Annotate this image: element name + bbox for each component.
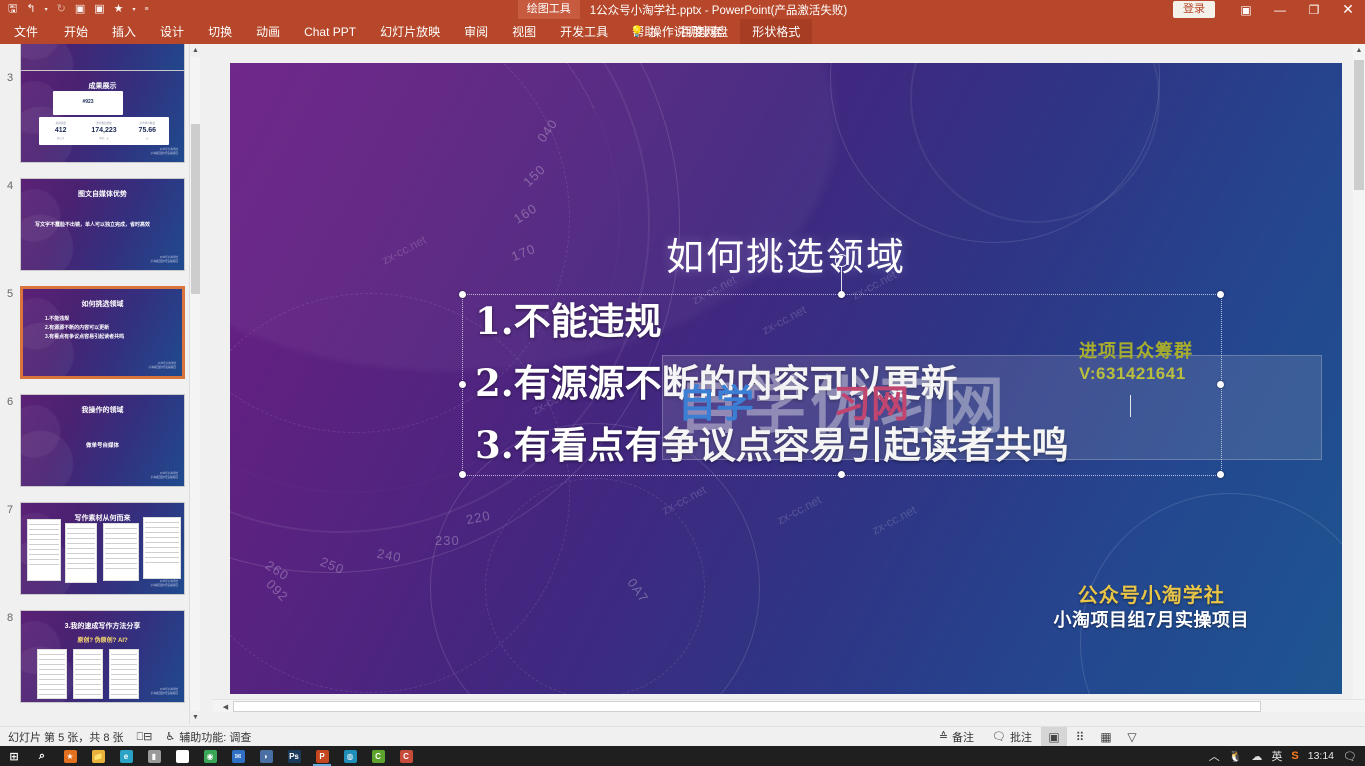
thumbnail-scrollbar[interactable]: ▲ ▼: [189, 44, 200, 724]
photoshop-icon[interactable]: Ps: [280, 746, 308, 766]
present-icon[interactable]: ▣: [94, 4, 104, 15]
horizontal-scrollbar[interactable]: ◀: [213, 699, 1365, 712]
thumbnail-screenshot-line: [105, 543, 137, 544]
thumbnail-stat-top-value: #923: [53, 91, 123, 105]
thumbnail-stat-cell-1: 总阅读量412较上月: [39, 117, 82, 145]
thumbnail-footer-line: 小淘项目组7月实操项目: [151, 584, 178, 588]
thumbnail-screenshot-line: [105, 538, 137, 539]
thumbnail-title: 3.我的速成写作方法分享: [21, 621, 184, 631]
status-right-group: ≙ 备注 🗨 批注 ▣ ⠿ ▦ ▽: [930, 727, 1145, 747]
mail-icon[interactable]: ✉: [224, 746, 252, 766]
thumbnail-screenshot-line: [39, 654, 65, 655]
resize-handle-tl[interactable]: [459, 291, 466, 298]
show-hidden-icons-icon[interactable]: ︿: [1209, 748, 1220, 764]
search-icon-glyph: ⌕: [36, 750, 49, 763]
slide-title[interactable]: 如何挑选领域: [230, 226, 1342, 281]
slide-canvas-area: 0401501601702202302402502600920A7 如何挑选领域…: [213, 44, 1365, 724]
file-explorer-icon-glyph: 📁: [92, 750, 105, 763]
accessibility-label: 辅助功能: 调查: [179, 729, 251, 745]
thumbnail-footer: 公众号小淘学社小淘项目组7月实操项目: [149, 362, 176, 370]
watermark-pink-text: 习网: [833, 373, 909, 428]
thumbnail-screenshot-line: [67, 538, 95, 539]
thumbnail-stat-value: 75.66: [126, 125, 169, 134]
resize-handle-bc[interactable]: [838, 471, 845, 478]
contextual-tab-label: 绘图工具: [518, 0, 580, 19]
edge-browser-icon-glyph: e: [120, 750, 133, 763]
thumbnail-screenshot-line: [67, 528, 95, 529]
thumbnail-screenshot-line: [111, 689, 137, 690]
canvas-scroll-up-icon[interactable]: ▲: [1353, 44, 1365, 57]
thumbnail-body-line: 1.不能违规: [45, 315, 69, 322]
thumbnail-footer-line: 小淘项目组7月实操项目: [151, 152, 178, 156]
wechat-icon[interactable]: C: [364, 746, 392, 766]
slide-thumbnail-pane[interactable]: 3成果展示#923总阅读量412较上月累计收益金额174,223单位：元平均单价…: [0, 44, 200, 724]
accessibility-icon: ♿: [165, 730, 175, 743]
login-button[interactable]: 登录: [1173, 1, 1215, 18]
thumbnail-screenshot-line: [111, 674, 137, 675]
watermark-group-line1: 进项目众筹群: [1079, 340, 1193, 363]
ribbon-tab-7[interactable]: Chat PPT: [292, 19, 368, 44]
thumbnail-screenshot-line: [111, 669, 137, 670]
thumbnail-stat-sub: 较上月: [39, 134, 82, 140]
thumbnail-screenshot-line: [105, 528, 137, 529]
start-from-beginning-icon[interactable]: ▣: [75, 4, 85, 15]
thumbnail-screenshot-line: [145, 552, 179, 553]
comments-button[interactable]: 🗨 批注: [983, 727, 1041, 747]
resize-handle-bl[interactable]: [459, 471, 466, 478]
thumbnail-screenshot-line: [145, 562, 179, 563]
thumbnail-screenshot-line: [29, 564, 59, 565]
resize-handle-tr[interactable]: [1217, 291, 1224, 298]
thumbnail-screenshot-line: [29, 539, 59, 540]
ribbon-display-options-icon[interactable]: ▣: [1229, 0, 1263, 19]
ribbon-tab-8[interactable]: 幻灯片放映: [368, 19, 452, 44]
app-star-icon-glyph: ★: [64, 750, 77, 763]
thumbnail-footer: 公众号小淘学社小淘项目组7月实操项目: [151, 580, 178, 588]
glasses-app-icon-glyph: ◎: [176, 750, 189, 763]
thumbnail-number: 4: [0, 178, 20, 271]
paint-icon[interactable]: ◗: [252, 746, 280, 766]
language-icon[interactable]: ⎕⊟: [137, 730, 153, 744]
thumbnail-screenshot-1: [27, 519, 61, 581]
reading-view-button[interactable]: ▦: [1093, 727, 1119, 747]
thumbnail-item-5[interactable]: 5如何挑选领域1.不能违规2.有源源不断的内容可以更新3.有看点有争议点容易引起…: [0, 286, 200, 379]
thumbnail-slide-3[interactable]: 成果展示#923总阅读量412较上月累计收益金额174,223单位：元平均单价收…: [20, 70, 185, 163]
document-title: 1公众号小淘学社.pptx - PowerPoint(产品激活失败): [590, 2, 848, 18]
thumbnail-screenshot-line: [67, 553, 95, 554]
powerpoint-icon[interactable]: P: [308, 746, 336, 766]
thumbnail-footer: 公众号小淘学社小淘项目组7月实操项目: [151, 148, 178, 156]
thumbnail-screenshot-line: [29, 544, 59, 545]
thumbnail-screenshot-line: [39, 669, 65, 670]
thumbnail-screenshot-line: [145, 537, 179, 538]
thumbnail-footer: 公众号小淘学社小淘项目组7月实操项目: [151, 688, 178, 696]
capture-icon-glyph: C: [400, 750, 413, 763]
watermark-blue-text: 自学: [678, 373, 754, 428]
thumbnail-screenshot-line: [39, 694, 65, 695]
thumbnail-screenshot-line: [75, 664, 101, 665]
thumbnail-screenshot-line: [75, 689, 101, 690]
thumbnail-screenshot-line: [39, 664, 65, 665]
accessibility-status[interactable]: ♿ 辅助功能: 调查: [165, 729, 251, 745]
thumbnail-screenshot-line: [75, 659, 101, 660]
thumbnail-screenshot-line: [39, 659, 65, 660]
thumbnail-number: 7: [0, 502, 20, 595]
thumbnail-title: 如何挑选领域: [23, 299, 182, 309]
thumbnail-slide-7[interactable]: 写作素材从何而来公众号小淘学社小淘项目组7月实操项目: [20, 502, 185, 595]
thumbnail-screenshot-line: [67, 563, 95, 564]
thumbnail-screenshot-2: [65, 523, 97, 583]
thumbnail-screenshot-line: [67, 533, 95, 534]
body-text-placeholder[interactable]: 1.不能违规 2.有源源不断的内容可以更新 3.有看点有争议点容易引起读者共鸣 …: [463, 295, 1221, 475]
normal-view-button[interactable]: ▣: [1041, 727, 1067, 747]
text-cursor-icon: [1130, 395, 1131, 417]
thumbnail-screenshot-line: [105, 563, 137, 564]
resize-handle-br[interactable]: [1217, 471, 1224, 478]
tell-me-search[interactable]: 💡 操作说明搜索: [620, 19, 732, 44]
thumbnail-footer-line: 小淘项目组7月实操项目: [151, 260, 178, 264]
thumbnail-stat-cell-2: 累计收益金额174,223单位：元: [82, 117, 125, 145]
body-line-1: 1.不能违规: [475, 291, 662, 345]
start-button-glyph: ⊞: [8, 750, 21, 763]
window-controls: 登录 ▣ — ❐ ✕: [1173, 0, 1365, 19]
thumbnail-screenshot-line: [145, 522, 179, 523]
chrome-browser-icon[interactable]: ◉: [196, 746, 224, 766]
thumbnail-screenshot-line: [145, 547, 179, 548]
thumbnail-title: 成果展示: [21, 81, 184, 91]
scrollbar-thumb[interactable]: [191, 124, 200, 294]
slide-sorter-view-button[interactable]: ⠿: [1067, 727, 1093, 747]
edge-browser-icon[interactable]: e: [112, 746, 140, 766]
search-icon[interactable]: ⌕: [28, 746, 56, 766]
star-icon[interactable]: ★: [114, 4, 124, 15]
thumbnail-item-7[interactable]: 7写作素材从何而来公众号小淘学社小淘项目组7月实操项目: [0, 502, 200, 595]
thumbnail-screenshot-line: [111, 684, 137, 685]
capture-icon[interactable]: C: [392, 746, 420, 766]
close-button[interactable]: ✕: [1331, 0, 1365, 19]
thumbnail-slide-6[interactable]: 我操作的领域做单号自媒体公众号小淘学社小淘项目组7月实操项目: [20, 394, 185, 487]
thumbnail-item-6[interactable]: 6我操作的领域做单号自媒体公众号小淘学社小淘项目组7月实操项目: [0, 394, 200, 487]
ribbon-tab-9[interactable]: 审阅: [452, 19, 500, 44]
taskbar-clock[interactable]: 13:14: [1308, 750, 1334, 762]
undo-icon[interactable]: ↰: [26, 4, 35, 15]
ribbon-tab-4[interactable]: 设计: [148, 19, 196, 44]
notification-center-icon[interactable]: 🗨: [1343, 750, 1357, 763]
notes-label: 备注: [952, 729, 974, 745]
thumbnail-screenshot-line: [75, 654, 101, 655]
slide-count-label[interactable]: 幻灯片 第 5 张，共 8 张: [8, 729, 124, 745]
thumbnail-body-line: 原创? 伪原创? AI?: [21, 635, 184, 644]
thumbnail-stat-cell-3: 平均单价收益75.66元: [126, 117, 169, 145]
thumbnail-screenshot-line: [105, 568, 137, 569]
thumbnail-screenshot-line: [145, 557, 179, 558]
tell-me-label: 操作说明搜索: [650, 23, 722, 40]
resize-handle-mr[interactable]: [1217, 381, 1224, 388]
current-slide[interactable]: 0401501601702202302402502600920A7 如何挑选领域…: [230, 63, 1342, 694]
thumbnail-screenshot-line: [67, 558, 95, 559]
mail-icon-glyph: ✉: [232, 750, 245, 763]
thumbnail-screenshot-line: [39, 679, 65, 680]
thumbnail-slide-8[interactable]: 3.我的速成写作方法分享原创? 伪原创? AI?公众号小淘学社小淘项目组7月实操…: [20, 610, 185, 703]
thumbnail-body-line: 2.有源源不断的内容可以更新: [45, 324, 109, 331]
thumbnail-footer-line: 小淘项目组7月实操项目: [149, 366, 176, 370]
windows-taskbar: ⊞⌕★📁e▮◎◉✉◗PsP◍CC ︿ 🐧 ☁ 英 S 13:14 🗨: [0, 746, 1365, 766]
sogou-ime-icon[interactable]: S: [1291, 750, 1298, 762]
star-dropdown-icon[interactable]: ▾: [133, 7, 136, 13]
thumbnail-screenshot-line: [29, 529, 59, 530]
thumbnail-stat-value: 412: [39, 125, 82, 134]
title-center-group: 绘图工具 1公众号小淘学社.pptx - PowerPoint(产品激活失败): [0, 0, 1365, 19]
photoshop-icon-glyph: Ps: [288, 750, 301, 763]
thumbnail-slide-4[interactable]: 图文自媒体优势写文字不露脸不出镜，单人可以独立完成，省时高效公众号小淘学社小淘项…: [20, 178, 185, 271]
resize-handle-ml[interactable]: [459, 381, 466, 388]
thumbnail-screenshot-line: [29, 534, 59, 535]
ribbon-tab-2[interactable]: 开始: [52, 19, 100, 44]
quick-access-toolbar: 🖫 ↰ ▾ ↻ ▣ ▣ ★ ▾ ≡: [8, 0, 149, 19]
file-explorer-icon[interactable]: 📁: [84, 746, 112, 766]
slideshow-view-button[interactable]: ▽: [1119, 727, 1145, 747]
thumbnail-screenshot-line: [67, 548, 95, 549]
thumbnail-number: 5: [0, 286, 20, 379]
comments-label: 批注: [1010, 729, 1032, 745]
thumbnail-screenshot-2: [73, 649, 103, 699]
paint-icon-glyph: ◗: [260, 750, 273, 763]
thumbnail-screenshot-line: [75, 669, 101, 670]
thumbnail-screenshot-line: [111, 679, 137, 680]
thumbnail-screenshot-line: [105, 553, 137, 554]
thumbnail-body-line: 写文字不露脸不出镜，单人可以独立完成，省时高效: [35, 221, 150, 228]
thumbnail-screenshot-line: [75, 684, 101, 685]
thumbnail-footer: 公众号小淘学社小淘项目组7月实操项目: [151, 472, 178, 480]
rotation-stem: [841, 267, 842, 293]
notes-icon: ≙: [939, 730, 948, 743]
thumbnail-item-4[interactable]: 4图文自媒体优势写文字不露脸不出镜，单人可以独立完成，省时高效公众号小淘学社小淘…: [0, 178, 200, 271]
thumbnail-screenshot-line: [111, 654, 137, 655]
thumbnail-screenshot-line: [75, 679, 101, 680]
watermark-group-line2: V:631421641: [1079, 363, 1193, 384]
thumbnail-screenshot-line: [39, 689, 65, 690]
thumbnail-screenshot-line: [145, 542, 179, 543]
powerpoint-window: 🖫 ↰ ▾ ↻ ▣ ▣ ★ ▾ ≡ 绘图工具 1公众号小淘学社.pptx - P…: [0, 0, 1365, 766]
app-star-icon[interactable]: ★: [56, 746, 84, 766]
undo-dropdown-icon[interactable]: ▾: [45, 7, 48, 13]
slide-signature: 公众号小淘学社 小淘项目组7月实操项目: [1053, 583, 1249, 633]
notes-button[interactable]: ≙ 备注: [930, 727, 983, 747]
thumbnail-footer-line: 小淘项目组7月实操项目: [151, 476, 178, 480]
thumbnail-screenshot-3: [109, 649, 139, 699]
scroll-down-icon[interactable]: ▼: [190, 711, 200, 724]
thumbnail-body-line: 做单号自媒体: [21, 441, 184, 449]
thumbnail-number: 8: [0, 610, 20, 703]
thumbnail-screenshot-line: [105, 548, 137, 549]
thumbnail-screenshot-line: [145, 532, 179, 533]
thumbnail-stat-sub: 元: [126, 134, 169, 140]
thumbnail-body-line: 3.有看点有争议点容易引起读者共鸣: [45, 333, 124, 340]
start-button[interactable]: ⊞: [0, 746, 28, 766]
ribbon-tab-14[interactable]: 形状格式: [740, 19, 812, 44]
thumbnail-screenshot-line: [29, 554, 59, 555]
usb-device-icon[interactable]: ▮: [140, 746, 168, 766]
thumbnail-screenshot-4: [143, 517, 181, 579]
restore-button[interactable]: ❐: [1297, 0, 1331, 19]
scroll-up-icon[interactable]: ▲: [190, 44, 200, 57]
taskbar-icons: ⊞⌕★📁e▮◎◉✉◗PsP◍CC: [0, 746, 420, 766]
system-tray: ︿ 🐧 ☁ 英 S 13:14 🗨: [1209, 748, 1361, 764]
customize-qat-icon[interactable]: ≡: [145, 6, 149, 13]
signature-account-name: 公众号小淘学社: [1053, 583, 1249, 609]
thumbnail-slide-5[interactable]: 如何挑选领域1.不能违规2.有源源不断的内容可以更新3.有看点有争议点容易引起读…: [20, 286, 185, 379]
thumbnail-screenshot-line: [67, 543, 95, 544]
ribbon-tab-11[interactable]: 开发工具: [548, 19, 620, 44]
ribbon-tab-10[interactable]: 视图: [500, 19, 548, 44]
powerpoint-icon-glyph: P: [316, 750, 329, 763]
horizontal-scrollbar-thumb[interactable]: [233, 701, 1261, 712]
thumbnail-screenshot-line: [75, 694, 101, 695]
gauge-number-6: 230: [435, 533, 460, 548]
thumbnail-screenshot-1: [37, 649, 67, 699]
rotate-handle-icon[interactable]: [835, 254, 848, 267]
browser-icon-glyph: ◍: [344, 750, 357, 763]
thumbnail-footer: 公众号小淘学社小淘项目组7月实操项目: [151, 256, 178, 264]
title-bar: 🖫 ↰ ▾ ↻ ▣ ▣ ★ ▾ ≡ 绘图工具 1公众号小淘学社.pptx - P…: [0, 0, 1365, 19]
ribbon-tab-3[interactable]: 插入: [100, 19, 148, 44]
thumbnail-screenshot-line: [29, 559, 59, 560]
thumbnail-stat-sub: 单位：元: [82, 134, 125, 140]
thumbnail-footer-line: 小淘项目组7月实操项目: [151, 692, 178, 696]
canvas-scrollbar-thumb[interactable]: [1354, 60, 1364, 190]
work-area: 3成果展示#923总阅读量412较上月累计收益金额174,223单位：元平均单价…: [0, 44, 1365, 724]
thumbnail-title: 图文自媒体优势: [21, 189, 184, 199]
ribbon-tab-5[interactable]: 切换: [196, 19, 244, 44]
usb-device-icon-glyph: ▮: [148, 750, 161, 763]
signature-project-name: 小淘项目组7月实操项目: [1053, 609, 1249, 633]
comment-icon: 🗨: [992, 730, 1006, 743]
qq-icon[interactable]: 🐧: [1229, 750, 1243, 763]
thumbnail-screenshot-line: [29, 549, 59, 550]
thumbnail-screenshot-line: [105, 558, 137, 559]
thumbnail-screenshot-line: [145, 527, 179, 528]
browser-icon[interactable]: ◍: [336, 746, 364, 766]
canvas-vertical-scrollbar[interactable]: ▲ ▼: [1353, 44, 1365, 712]
thumbnail-item-3[interactable]: 3成果展示#923总阅读量412较上月累计收益金额174,223单位：元平均单价…: [0, 70, 200, 163]
thumbnail-screenshot-line: [111, 659, 137, 660]
thumbnail-stat-card-row: 总阅读量412较上月累计收益金额174,223单位：元平均单价收益75.66元: [39, 117, 169, 145]
thumbnail-screenshot-line: [39, 674, 65, 675]
thumbnail-screenshot-line: [111, 694, 137, 695]
thumbnail-screenshot-line: [75, 674, 101, 675]
thumbnail-screenshot-line: [39, 684, 65, 685]
redo-icon[interactable]: ↻: [57, 4, 66, 15]
thumbnail-number: 3: [0, 70, 20, 163]
thumbnail-screenshot-line: [111, 664, 137, 665]
ime-chinese-icon[interactable]: 英: [1271, 748, 1282, 764]
thumbnail-screenshot-line: [105, 533, 137, 534]
scroll-left-icon[interactable]: ◀: [219, 700, 232, 713]
wechat-icon-glyph: C: [372, 750, 385, 763]
thumbnail-title: 我操作的领域: [21, 405, 184, 415]
ribbon-tab-1[interactable]: 文件: [0, 19, 52, 44]
watermark-group-info: 进项目众筹群 V:631421641: [1079, 340, 1193, 384]
status-bar: 幻灯片 第 5 张，共 8 张 ⎕⊟ ♿ 辅助功能: 调查 ≙ 备注 🗨 批注 …: [0, 726, 1365, 746]
thumbnail-screenshot-3: [103, 523, 139, 581]
minimize-button[interactable]: —: [1263, 0, 1297, 19]
lightbulb-icon: 💡: [630, 25, 644, 38]
thumbnail-screenshot-line: [67, 568, 95, 569]
thumbnail-screenshot-line: [29, 524, 59, 525]
ribbon-tab-6[interactable]: 动画: [244, 19, 292, 44]
sogou-cloud-icon[interactable]: ☁: [1251, 750, 1262, 763]
thumbnail-number: 6: [0, 394, 20, 487]
thumbnail-stat-card-top: #923: [53, 91, 123, 115]
ribbon-tab-bar: 文件开始插入设计切换动画Chat PPT幻灯片放映审阅视图开发工具帮助百度网盘形…: [0, 19, 1365, 44]
save-icon[interactable]: 🖫: [8, 4, 17, 15]
thumbnail-item-8[interactable]: 83.我的速成写作方法分享原创? 伪原创? AI?公众号小淘学社小淘项目组7月实…: [0, 610, 200, 703]
glasses-app-icon[interactable]: ◎: [168, 746, 196, 766]
chrome-browser-icon-glyph: ◉: [204, 750, 217, 763]
thumbnail-stat-value: 174,223: [82, 125, 125, 134]
status-left-group: 幻灯片 第 5 张，共 8 张 ⎕⊟ ♿ 辅助功能: 调查: [0, 729, 251, 745]
